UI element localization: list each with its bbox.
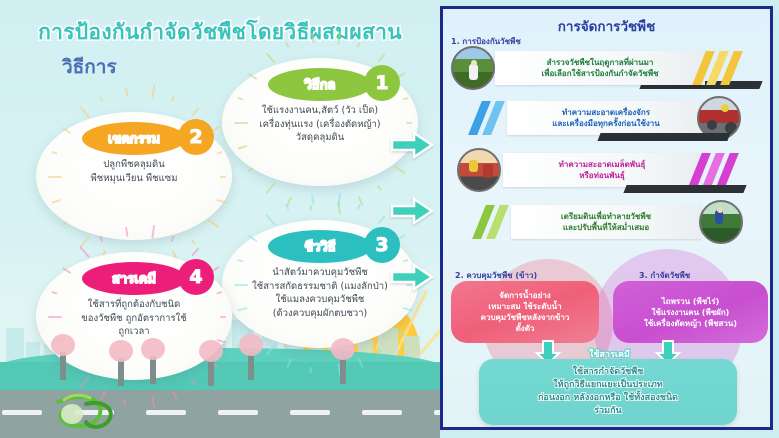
bubble-ray [357,204,361,210]
bubble-ray [309,205,312,211]
tree-canopy [109,340,133,362]
bubble-ray [248,167,254,172]
seed-cleaning-photo [457,148,501,192]
bubble-ray [191,248,199,257]
bubble-ray [79,236,90,248]
bubble-number: 1 [364,65,400,101]
bubble-ray [216,291,222,295]
road-lane-dash [290,410,330,415]
road-lane-dash [146,410,186,415]
bubble-ray [265,182,276,194]
bubble-ray [191,239,196,245]
bubble-caption: วิธีกล [268,68,372,101]
bubble-ray [265,214,276,226]
bubble-ray [51,291,57,295]
tree-trunk [340,356,346,384]
bubble-ray [216,199,226,204]
bubble-ray [248,235,257,242]
bubble-ray [377,185,382,191]
prevention-banner-text: ทำความสะอาดเครื่องจักร และเครื่องมือทุกค… [507,101,705,135]
bubble-ray [171,96,175,102]
bubble-caption: สารเคมี [82,262,186,295]
bubble-ray [237,259,243,263]
chemical-instructions-text: ใช้สารกำจัดวัชพืช ให้ถูกวิธีแยกแยะเป็นปร… [538,366,678,418]
bubble-body: ปลูกพืชคลุมดิน พืชหมุนเวียน พืชแซม [42,158,226,185]
bubble-ray [358,196,364,206]
page-subtitle: วิธีการ [62,52,117,82]
bubble-ray [79,246,90,258]
fifty-anniversary-logo [46,392,126,434]
tree-trunk [60,352,66,380]
weed-management-panel: การจัดการวัชพืช 1. การป้องกันวัชพืช สำรว… [440,6,773,430]
road-lane-dash [362,410,402,415]
tree-canopy [51,334,75,356]
bubble-ray [207,219,220,228]
bubble-ray [337,193,341,207]
bubble-number: 4 [178,259,214,295]
prevention-row-machinery: ทำความสะอาดเครื่องจักร และเครื่องมือทุกค… [449,95,767,141]
arrow-right-icon [390,262,434,292]
prevention-banner-text: ทำความสะอาดเมล็ดพันธุ์ หรือท่อนพันธุ์ [503,153,701,187]
bubble-ray [99,96,103,102]
tree-canopy [331,338,355,360]
bubble-ray [237,145,247,150]
bubble-body: ใช้สารที่ถูกต้องกับชนิด ของวัชพืช ถูกอัต… [42,298,226,339]
bubble-ray [62,127,71,134]
bubble-ray [286,196,292,206]
field-survey-photo [451,46,495,90]
bubble-ray [377,54,385,63]
bubble-ray [248,73,257,80]
prevention-row-seed: ทำความสะอาดเมล็ดพันธุ์ หรือท่อนพันธุ์ [449,147,767,193]
page-title: การป้องกันกำจัดวัชพืชโดยวิธีผสมผสาน [0,16,440,49]
tree-trunk [118,358,124,386]
bubble-caption: ชีววิธี [268,230,372,263]
tree-trunk [150,356,156,384]
method-bubble-cultural[interactable]: เขตกรรม 2 ปลูกพืชคลุมดิน พืชหมุนเวียน พื… [36,112,232,240]
road-lane-dash [2,410,42,415]
bubble-ray [237,97,243,101]
tree-canopy [141,338,165,360]
decorative-bar [597,133,730,141]
bubble-ray [377,216,385,225]
method-bubble-biological[interactable]: ชีววิธี 3 นำสัตว์มาควบคุมวัชพืช ใช้สารสก… [222,220,418,348]
bubble-ray [125,87,128,97]
decorative-bar [623,185,746,193]
weed-eradication-box[interactable]: ไถพรวน (พืชไร่) ใช้แรงงานคน (พืชผัก) ใช้… [613,281,768,343]
bubble-ray [191,108,199,117]
bubble-ray [402,97,408,101]
panel-title: การจัดการวัชพืช [443,15,770,37]
bubble-ray [51,199,61,204]
bubble-ray [62,267,71,274]
rice-water-control-box[interactable]: จัดการน้ำอย่าง เหมาะสม ใช้ระดับน้ำ ควบคุ… [451,281,599,343]
left-scene-panel: การป้องกันกำจัดวัชพืชโดยวิธีผสมผสาน วิธี… [0,0,440,438]
method-bubble-mechanical[interactable]: วิธีกล 1 ใช้แรงงานคน,สัตว์ (วัว เป็ด) เค… [222,58,418,186]
road-lane-dash [218,410,258,415]
bubble-ray [285,204,289,210]
bubble-body: นำสัตว์มาควบคุมวัชพืช ใช้สารสกัดธรรมชาติ… [228,266,412,320]
prevention-banner-text: เตรียมดินเพื่อทำลายวัชพืช และปรับพื้นที่… [511,205,701,239]
tree-trunk [248,352,254,380]
bubble-body: ใช้แรงงานคน,สัตว์ (วัว เป็ด) เครื่องทุ่น… [228,104,412,145]
tree-canopy [239,334,263,356]
bubble-ray [171,236,175,242]
bubble-ray [79,106,90,118]
arrow-right-icon [390,130,434,160]
tree-canopy [199,340,223,362]
chemical-instructions-box[interactable]: ใช้สารกำจัดวัชพืช ให้ถูกวิธีแยกแยะเป็นปร… [479,359,737,425]
bubble-ray [62,221,68,226]
prevention-row-survey: สำรวจวัชพืชในฤดูกาลที่ผ่านมา เพื่อเลือกใ… [449,45,767,91]
tree-trunk [208,358,214,386]
bubble-ray [311,195,314,205]
bubble-number: 3 [364,227,400,263]
prevention-row-soil: เตรียมดินเพื่อทำลายวัชพืช และปรับพื้นที่… [449,199,767,245]
arrow-right-icon [390,196,434,226]
prevention-banner-text: สำรวจวัชพืชในฤดูกาลที่ผ่านมา เพื่อเลือกใ… [495,51,705,85]
bubble-ray [393,165,406,174]
soil-preparation-photo [699,200,743,244]
bubble-number: 2 [178,119,214,155]
ground-band-lower [0,362,440,392]
bubble-ray [337,201,341,215]
bubble-ray [265,52,276,64]
bubble-caption: เขตกรรม [82,122,186,155]
bubble-ray [216,151,222,155]
bubble-ray [151,85,155,99]
bubble-ray [51,151,57,155]
